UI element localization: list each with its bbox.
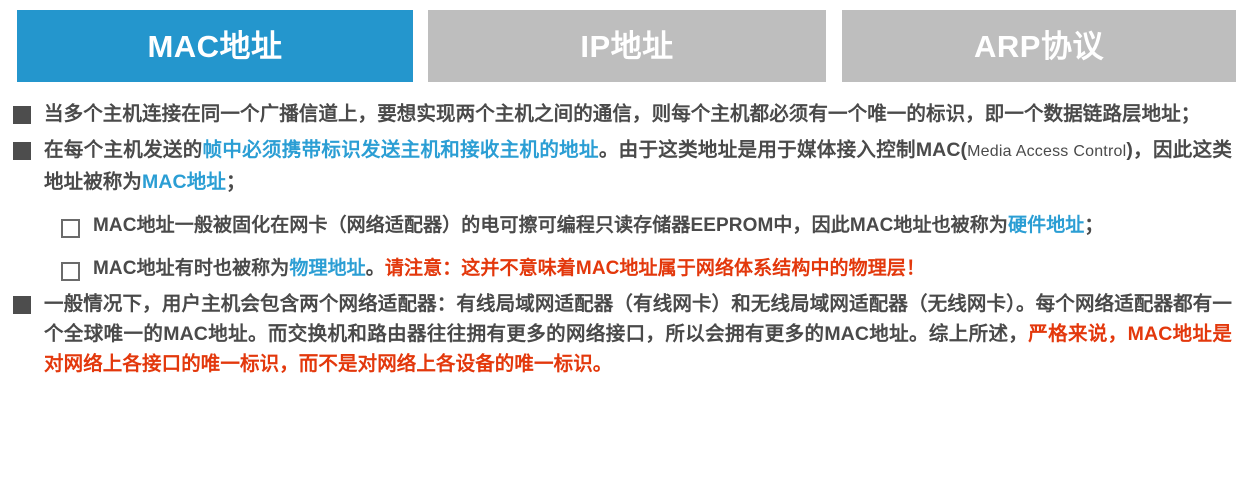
- text-run-blue: 硬件地址: [1008, 215, 1084, 236]
- bullet-text: 一般情况下，用户主机会包含两个网络适配器：有线局域网适配器（有线网卡）和无线局域…: [44, 289, 1232, 379]
- text-run-gray-small: Media Access Control: [967, 143, 1126, 160]
- tab-mac-address[interactable]: MAC地址: [17, 10, 413, 82]
- tab-ip-address[interactable]: IP地址: [428, 10, 826, 82]
- text-run-blue: 物理地址: [289, 258, 365, 279]
- text-run-blue: MAC地址: [142, 171, 226, 193]
- text-run-gray: ；: [226, 171, 246, 193]
- text-run-red: 请注意：这并不意味着MAC地址属于网络体系结构中的物理层！: [385, 258, 925, 279]
- bullet-item: 当多个主机连接在同一个广播信道上，要想实现两个主机之间的通信，则每个主机都必须有…: [0, 99, 1246, 129]
- text-run-gray: MAC地址有时也被称为: [93, 258, 289, 279]
- hollow-square-bullet-icon: [61, 262, 80, 281]
- bullet-text: 在每个主机发送的帧中必须携带标识发送主机和接收主机的地址。由于这类地址是用于媒体…: [44, 135, 1232, 197]
- text-run-gray: MAC地址一般被固化在网卡（网络适配器）的电可擦可编程只读存储器EEPROM中，…: [93, 215, 1008, 236]
- tab-mac-address-label: MAC地址: [147, 31, 282, 62]
- bullet-item: 一般情况下，用户主机会包含两个网络适配器：有线局域网适配器（有线网卡）和无线局域…: [0, 289, 1246, 379]
- sub-bullet-text: MAC地址一般被固化在网卡（网络适配器）的电可擦可编程只读存储器EEPROM中，…: [93, 211, 1232, 240]
- bullet-item: 在每个主机发送的帧中必须携带标识发送主机和接收主机的地址。由于这类地址是用于媒体…: [0, 135, 1246, 197]
- filled-square-bullet-icon: [13, 142, 31, 160]
- sub-bullet-item: MAC地址有时也被称为物理地址。请注意：这并不意味着MAC地址属于网络体系结构中…: [0, 254, 1246, 283]
- text-run-gray: ；: [1084, 215, 1103, 236]
- text-run-gray: 在每个主机发送的: [44, 139, 203, 161]
- slide-root: MAC地址 IP地址 ARP协议 当多个主机连接在同一个广播信道上，要想实现两个…: [0, 0, 1246, 492]
- tab-ip-address-label: IP地址: [580, 31, 673, 62]
- tab-arp-protocol[interactable]: ARP协议: [842, 10, 1236, 82]
- hollow-square-bullet-icon: [61, 219, 80, 238]
- text-run-gray: 当多个主机连接在同一个广播信道上，要想实现两个主机之间的通信，则每个主机都必须有…: [44, 103, 1200, 125]
- bullet-text: 当多个主机连接在同一个广播信道上，要想实现两个主机之间的通信，则每个主机都必须有…: [44, 99, 1232, 129]
- tab-arp-protocol-label: ARP协议: [974, 31, 1104, 62]
- filled-square-bullet-icon: [13, 296, 31, 314]
- text-run-gray: 。由于这类地址是用于媒体接入控制MAC(: [599, 139, 967, 161]
- text-run-gray: 。: [366, 258, 385, 279]
- filled-square-bullet-icon: [13, 106, 31, 124]
- bullet-list: 当多个主机连接在同一个广播信道上，要想实现两个主机之间的通信，则每个主机都必须有…: [0, 99, 1246, 379]
- text-run-blue: 帧中必须携带标识发送主机和接收主机的地址: [203, 139, 599, 161]
- sub-bullet-text: MAC地址有时也被称为物理地址。请注意：这并不意味着MAC地址属于网络体系结构中…: [93, 254, 1232, 283]
- tab-bar: MAC地址 IP地址 ARP协议: [0, 0, 1246, 92]
- sub-bullet-item: MAC地址一般被固化在网卡（网络适配器）的电可擦可编程只读存储器EEPROM中，…: [0, 211, 1246, 240]
